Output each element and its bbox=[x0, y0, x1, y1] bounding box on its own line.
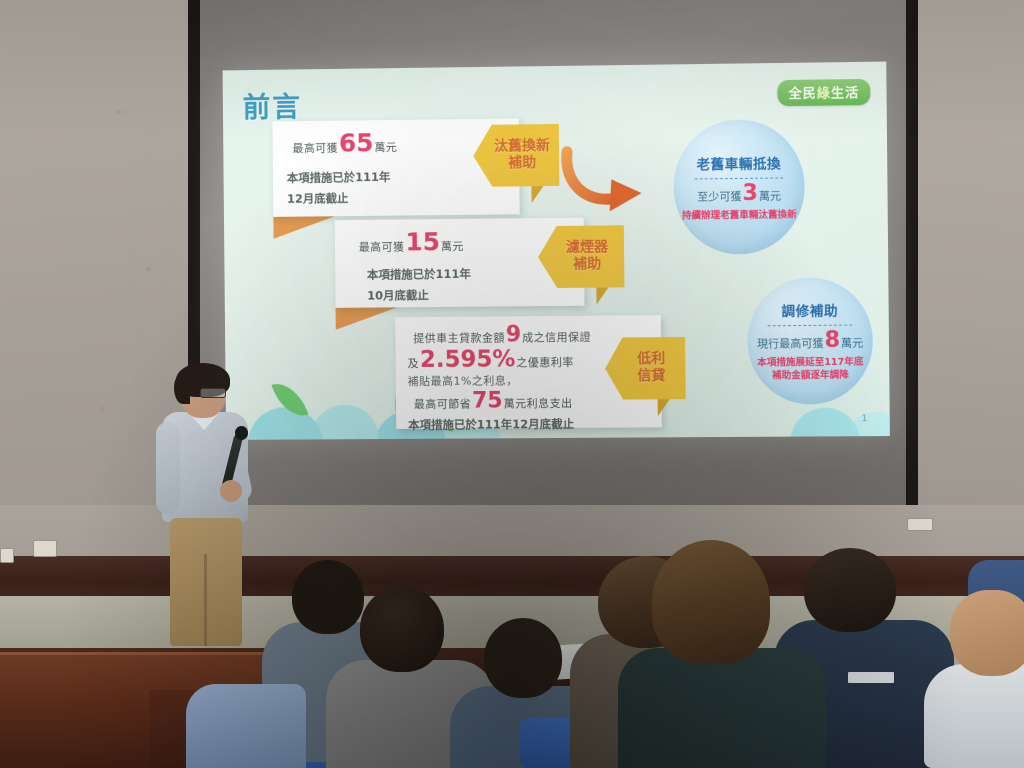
brand-accent: 綠 bbox=[817, 86, 831, 101]
tag-filter-line1: 濾煙器 bbox=[566, 239, 608, 257]
photo-scene: 前言 全民綠生活 最高可獲 65 萬元 本項措施已於111年 12月底截止 汰舊… bbox=[0, 0, 1024, 768]
loan-l1-num: 9 bbox=[506, 324, 521, 346]
audience-head bbox=[804, 548, 896, 632]
loan-l2-suffix: 之優惠利率 bbox=[516, 354, 574, 370]
brand-logo: 全民綠生活 bbox=[777, 79, 870, 106]
bubble-old-vehicle-offset: 老舊車輛抵換 至少可獲 3 萬元 持續辦理老舊車輛汰舊換新 bbox=[673, 119, 805, 255]
tag-stem-icon bbox=[531, 186, 543, 203]
tag-loan-line1: 低利 bbox=[637, 351, 665, 369]
curved-arrow-icon bbox=[561, 145, 652, 216]
loan-l1-suffix: 成之信用保證 bbox=[522, 329, 591, 346]
bubble-trade-suffix: 萬元 bbox=[759, 187, 781, 203]
presenter-hair-side bbox=[174, 374, 190, 404]
light-switch-icon[interactable] bbox=[33, 540, 57, 557]
bubble-trade-note: 持續辦理老舊車輛汰舊換新 bbox=[682, 209, 797, 222]
loan-l2-num: 2.595% bbox=[420, 348, 516, 372]
filter-note-line1: 本項措施已於111年 bbox=[367, 265, 570, 283]
tag-stem-icon bbox=[596, 288, 608, 305]
brand-suffix: 生活 bbox=[831, 86, 859, 101]
bubble-trade-prefix: 至少可獲 bbox=[697, 188, 741, 205]
tag-loan-line2: 信貸 bbox=[637, 368, 665, 386]
presenter-arm-left bbox=[156, 422, 180, 514]
trouser-seam bbox=[204, 554, 207, 646]
wall-plate-icon bbox=[907, 518, 933, 531]
bubble-repair-prefix: 現行最高可獲 bbox=[757, 335, 824, 352]
bubble-trade-title: 老舊車輛抵換 bbox=[696, 152, 781, 173]
audience-shoulder bbox=[186, 684, 306, 768]
divider bbox=[767, 325, 852, 327]
loan-l2-prefix: 及 bbox=[407, 355, 419, 371]
projected-slide: 前言 全民綠生活 最高可獲 65 萬元 本項措施已於111年 12月底截止 汰舊… bbox=[223, 62, 890, 440]
filter-note-line2: 10月底截止 bbox=[367, 286, 570, 304]
loan-l1-prefix: 提供車主貸款金額 bbox=[413, 329, 505, 346]
microphone-head-icon bbox=[235, 426, 248, 440]
slide-title: 前言 bbox=[242, 85, 302, 126]
audience-head bbox=[652, 540, 770, 664]
bubble-repair-suffix: 萬元 bbox=[841, 335, 863, 351]
room-wall-right bbox=[900, 0, 1024, 560]
audience-head bbox=[360, 586, 444, 672]
fold-triangle-icon bbox=[273, 216, 335, 239]
bubble-repair-title: 調修補助 bbox=[781, 300, 838, 321]
audience-head bbox=[484, 618, 562, 698]
bubble-repair-subsidy: 調修補助 現行最高可獲 8 萬元 本項措施展延至117年底 補助金額逐年調降 bbox=[747, 277, 873, 405]
brand-prefix: 全民 bbox=[788, 87, 816, 102]
fold-triangle-icon bbox=[336, 307, 398, 329]
bubble-repair-value: 8 bbox=[824, 330, 840, 352]
presenter-hand bbox=[220, 480, 242, 502]
filter-amount-prefix: 最高可獲 bbox=[359, 238, 405, 254]
scrap-amount-suffix: 萬元 bbox=[374, 139, 397, 155]
presenter bbox=[152, 368, 262, 650]
tag-scrap-line1: 汰舊換新 bbox=[494, 138, 550, 156]
filter-amount-suffix: 萬元 bbox=[441, 238, 464, 254]
bubble-repair-note1: 本項措施展延至117年底 bbox=[751, 357, 869, 370]
tag-stem-icon bbox=[658, 399, 670, 416]
slide-page-number: 1 bbox=[862, 414, 868, 424]
audience-body bbox=[924, 664, 1024, 768]
jacket-logo-icon bbox=[848, 672, 894, 683]
divider bbox=[694, 177, 783, 179]
bubble-repair-note2: 補助金額逐年調降 bbox=[752, 370, 870, 383]
loan-l4-prefix: 最高可節省 bbox=[414, 396, 471, 412]
glasses-icon bbox=[200, 388, 226, 398]
scrap-note-line2: 12月底截止 bbox=[287, 189, 506, 207]
loan-l5: 本項措施已於111年12月底截止 bbox=[408, 415, 650, 432]
tag-scrap-line2: 補助 bbox=[494, 155, 550, 173]
power-outlet-icon[interactable] bbox=[0, 548, 14, 563]
audience-head bbox=[950, 590, 1024, 676]
bubble-trade-value: 3 bbox=[742, 182, 758, 204]
scrap-note-line1: 本項措施已於111年 bbox=[287, 168, 506, 186]
scrap-amount: 65 bbox=[339, 130, 374, 155]
audience-head bbox=[292, 560, 364, 634]
filter-amount: 15 bbox=[405, 229, 440, 254]
tag-filter-line2: 補助 bbox=[566, 256, 608, 274]
scrap-amount-prefix: 最高可獲 bbox=[292, 140, 338, 156]
loan-l4-num: 75 bbox=[472, 390, 503, 412]
audience-body bbox=[618, 648, 826, 768]
loan-l4-suffix: 萬元利息支出 bbox=[504, 395, 573, 411]
